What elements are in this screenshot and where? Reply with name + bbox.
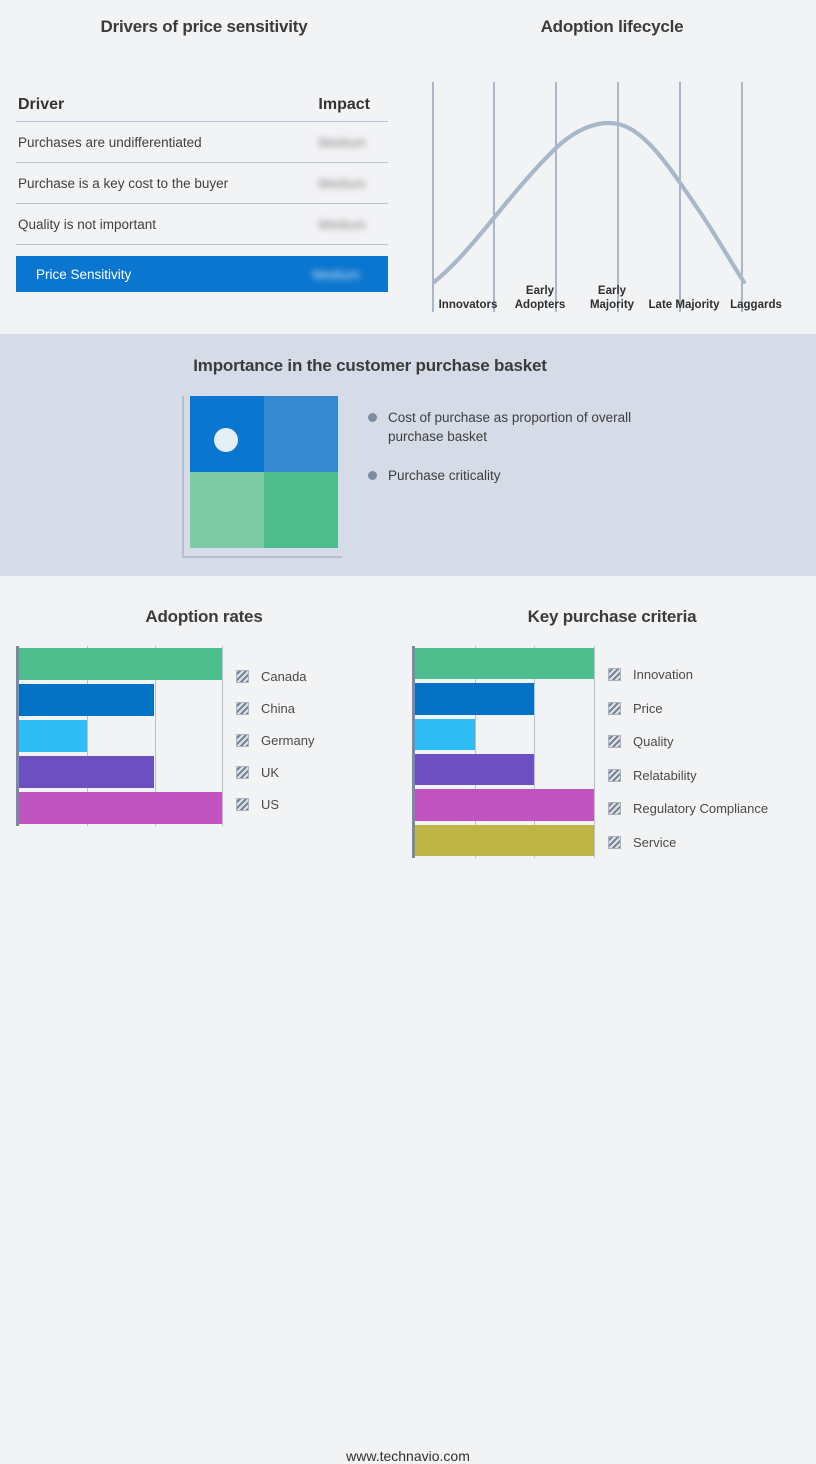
- legend-swatch-icon: [236, 766, 249, 779]
- bar-quality: [415, 719, 475, 750]
- legend-item: Relatability: [608, 759, 768, 793]
- drivers-of-price-sensitivity-panel: Drivers of price sensitivity Driver Impa…: [0, 0, 408, 334]
- quadrant-position-marker: [214, 428, 238, 452]
- driver-label: Purchase is a key cost to the buyer: [18, 176, 228, 191]
- lifecycle-stage-laggards: Laggards: [720, 299, 792, 315]
- bar-row: [415, 646, 594, 681]
- bar-row: [19, 646, 222, 682]
- drivers-panel-title: Drivers of price sensitivity: [0, 17, 408, 37]
- legend-item-label: Service: [633, 835, 676, 850]
- gridline: [222, 646, 223, 826]
- lifecycle-panel-title: Adoption lifecycle: [408, 17, 816, 37]
- legend-item: UK: [236, 756, 314, 788]
- quadrant-bottom-left: [190, 472, 264, 548]
- bar-row: [415, 823, 594, 858]
- key-purchase-criteria-panel: Key purchase criteria InnovationPriceQua…: [408, 576, 816, 902]
- quadrant-top-right: [264, 396, 338, 472]
- legend-item-label: Regulatory Compliance: [633, 801, 768, 816]
- bar-uk: [19, 756, 154, 788]
- quadrant-chart: [190, 396, 338, 548]
- legend-item-label: Cost of purchase as proportion of overal…: [388, 408, 650, 446]
- bar-regulatory-compliance: [415, 789, 594, 820]
- adoption-rates-panel: Adoption rates CanadaChinaGermanyUKUS: [0, 576, 408, 902]
- table-header-row: Driver Impact: [16, 88, 388, 122]
- legend-item-label: Innovation: [633, 667, 693, 682]
- criteria-bars: [415, 646, 594, 858]
- impact-value-redacted: Medium: [319, 176, 382, 191]
- summary-label: Price Sensitivity: [36, 267, 131, 282]
- legend-item-label: UK: [261, 765, 279, 780]
- gridline: [594, 646, 595, 858]
- legend-swatch-icon: [608, 702, 621, 715]
- bar-germany: [19, 720, 87, 752]
- quadrant-bottom-right: [264, 472, 338, 548]
- legend-item-label: Canada: [261, 669, 307, 684]
- lifecycle-stage-early-majority: Early Majority: [576, 285, 648, 314]
- bar-row: [19, 682, 222, 718]
- legend-item: Cost of purchase as proportion of overal…: [368, 408, 688, 446]
- footer-url: www.technavio.com: [0, 1448, 816, 1464]
- legend-item: US: [236, 788, 314, 820]
- legend-item-label: Price: [633, 701, 663, 716]
- lifecycle-stage-labels: Innovators Early Adopters Early Majority…: [432, 272, 792, 314]
- legend-item: Quality: [608, 725, 768, 759]
- drivers-table: Driver Impact Purchases are undifferenti…: [16, 88, 388, 292]
- adoption-lifecycle-panel: Adoption lifecycle Innovators Early Adop…: [408, 0, 816, 334]
- legend-item: China: [236, 692, 314, 724]
- legend-swatch-icon: [236, 670, 249, 683]
- purchase-basket-legend: Cost of purchase as proportion of overal…: [368, 408, 688, 505]
- legend-item-label: Germany: [261, 733, 314, 748]
- bottom-section: Adoption rates CanadaChinaGermanyUKUS Ke…: [0, 576, 816, 902]
- lifecycle-stage-innovators: Innovators: [432, 299, 504, 315]
- bar-row: [19, 718, 222, 754]
- legend-swatch-icon: [608, 735, 621, 748]
- legend-swatch-icon: [608, 802, 621, 815]
- bar-row: [415, 717, 594, 752]
- adoption-bell-curve: [434, 123, 744, 282]
- bar-row: [19, 754, 222, 790]
- quadrant-top-left: [190, 396, 264, 472]
- purchase-basket-section: Importance in the customer purchase bask…: [0, 334, 816, 576]
- legend-item-label: China: [261, 701, 295, 716]
- legend-item-label: Quality: [633, 734, 673, 749]
- bar-innovation: [415, 648, 594, 679]
- table-row: Purchases are undifferentiated Medium: [16, 122, 388, 163]
- legend-swatch-icon: [608, 668, 621, 681]
- bar-us: [19, 792, 222, 824]
- legend-item: Canada: [236, 660, 314, 692]
- legend-item: Innovation: [608, 658, 768, 692]
- price-sensitivity-summary-row: Price Sensitivity Medium: [16, 256, 388, 292]
- bar-china: [19, 684, 154, 716]
- legend-swatch-icon: [608, 769, 621, 782]
- lifecycle-stage-early-adopters: Early Adopters: [504, 285, 576, 314]
- legend-swatch-icon: [236, 702, 249, 715]
- key-purchase-criteria-title: Key purchase criteria: [408, 607, 816, 627]
- legend-item: Service: [608, 826, 768, 860]
- table-row: Quality is not important Medium: [16, 204, 388, 245]
- driver-label: Quality is not important: [18, 217, 156, 232]
- key-purchase-criteria-legend: InnovationPriceQualityRelatabilityRegula…: [608, 658, 768, 859]
- adoption-rates-title: Adoption rates: [0, 607, 408, 627]
- legend-item-label: US: [261, 797, 279, 812]
- column-header-driver: Driver: [18, 96, 64, 114]
- adoption-bars: [19, 646, 222, 826]
- summary-impact-value-redacted: Medium: [313, 267, 382, 282]
- legend-item-label: Purchase criticality: [388, 466, 501, 485]
- legend-item: Germany: [236, 724, 314, 756]
- bar-row: [415, 787, 594, 822]
- adoption-rates-chart: [16, 646, 222, 826]
- legend-item-label: Relatability: [633, 768, 697, 783]
- lifecycle-stage-late-majority: Late Majority: [648, 299, 720, 315]
- impact-value-redacted: Medium: [319, 217, 382, 232]
- bullet-dot-icon: [368, 471, 377, 480]
- bar-relatability: [415, 754, 534, 785]
- legend-item: Purchase criticality: [368, 466, 688, 485]
- quadrant-chart-axes: [182, 396, 342, 558]
- legend-swatch-icon: [236, 734, 249, 747]
- top-section: Drivers of price sensitivity Driver Impa…: [0, 0, 816, 334]
- bar-price: [415, 683, 534, 714]
- driver-label: Purchases are undifferentiated: [18, 135, 202, 150]
- bar-row: [415, 681, 594, 716]
- bar-row: [19, 790, 222, 826]
- bar-service: [415, 825, 594, 856]
- adoption-rates-legend: CanadaChinaGermanyUKUS: [236, 660, 314, 820]
- bullet-dot-icon: [368, 413, 377, 422]
- legend-item: Price: [608, 692, 768, 726]
- bar-row: [415, 752, 594, 787]
- legend-swatch-icon: [608, 836, 621, 849]
- legend-item: Regulatory Compliance: [608, 792, 768, 826]
- key-purchase-criteria-chart: [412, 646, 594, 858]
- impact-value-redacted: Medium: [319, 135, 382, 150]
- legend-swatch-icon: [236, 798, 249, 811]
- purchase-basket-title: Importance in the customer purchase bask…: [0, 356, 740, 376]
- bar-canada: [19, 648, 222, 680]
- table-row: Purchase is a key cost to the buyer Medi…: [16, 163, 388, 204]
- column-header-impact: Impact: [318, 96, 382, 114]
